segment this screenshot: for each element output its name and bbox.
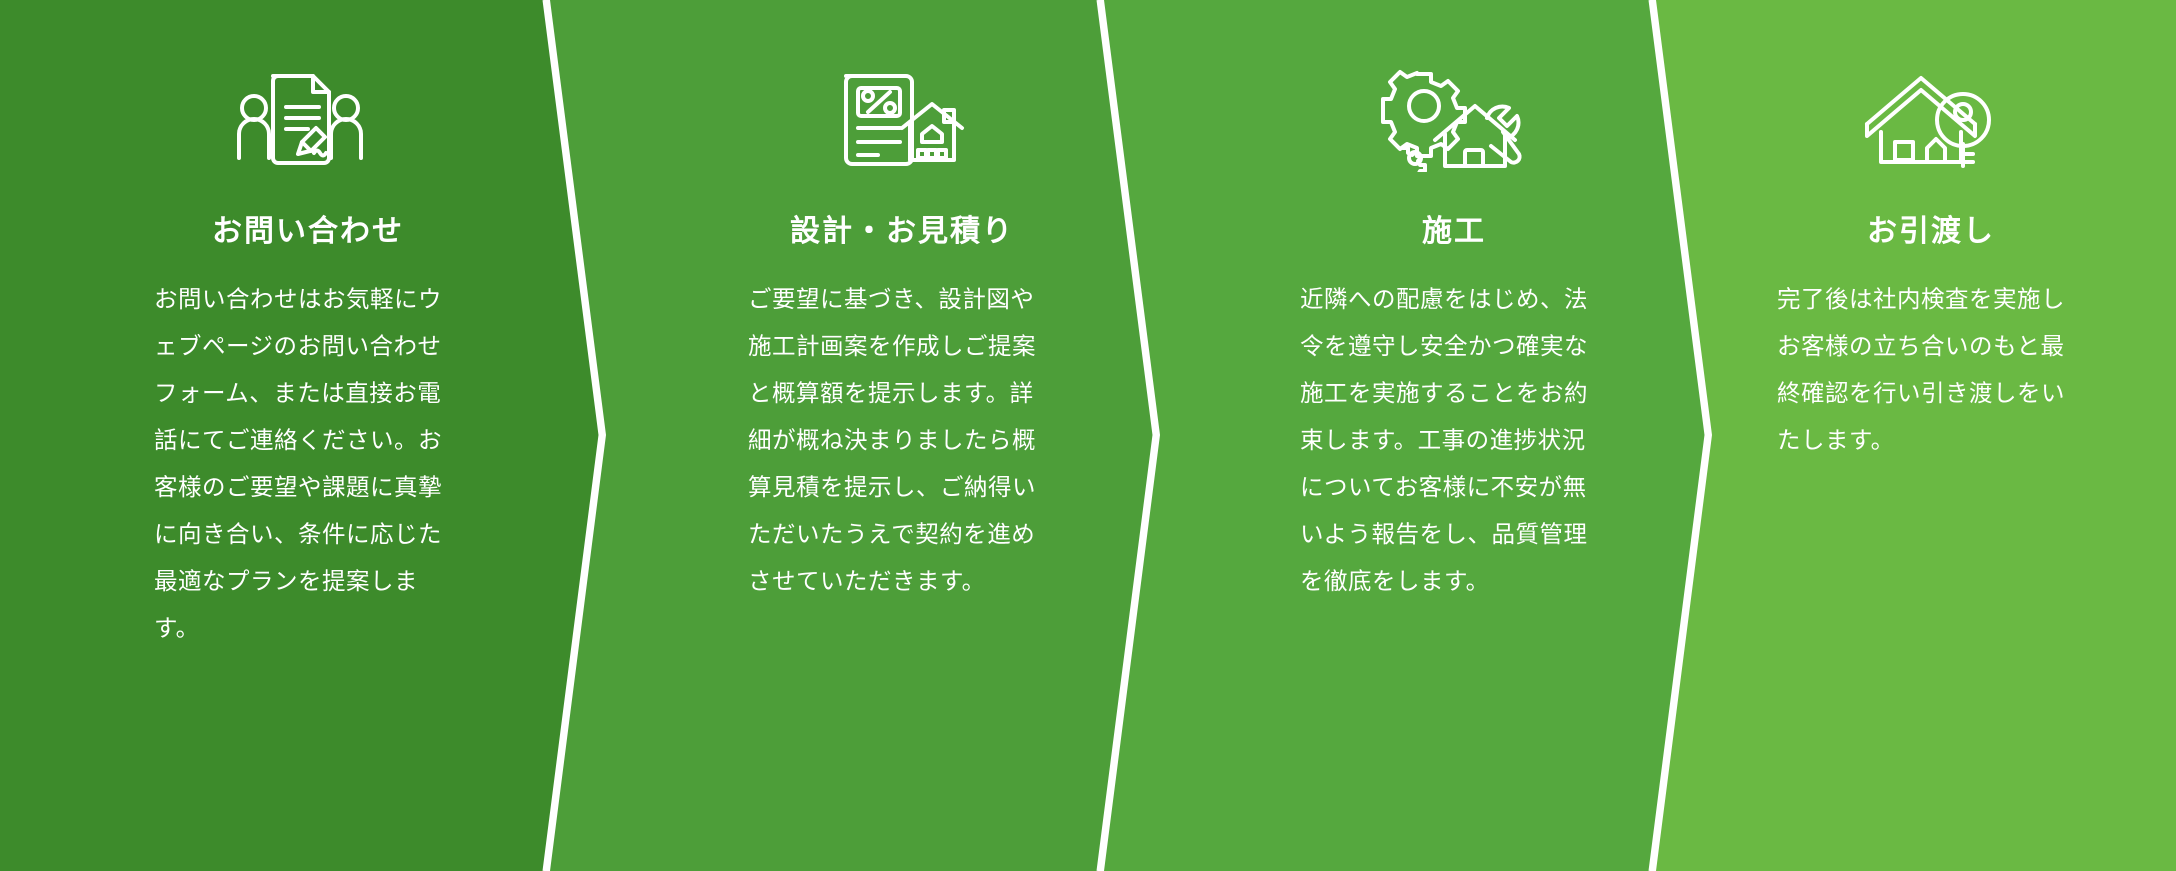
contract-signing-icon [225,62,375,172]
step-description: 近隣への配慮をはじめ、法令を遵守し安全かつ確実な施工を実施することをお約束します… [1300,276,1608,605]
house-key-handover-icon [1859,62,2004,172]
step-description: お問い合わせはお気軽にウェブページのお問い合わせフォーム、または直接お電話にてご… [154,276,462,652]
step-description: 完了後は社内検査を実施しお客様の立ち合いのもと最終確認を行い引き渡しをいたします… [1777,276,2085,464]
calculator-house-estimate-icon [832,62,972,172]
step-card-contact: お問い合わせ お問い合わせはお気軽にウェブページのお問い合わせフォーム、または直… [0,0,600,871]
step-card-construction: 施工 近隣への配慮をはじめ、法令を遵守し安全かつ確実な施工を実施することをお約束… [1098,0,1758,871]
step-card-design-estimate: 設計・お見積り ご要望に基づき、設計図や施工計画案を作成しご提案と概算額を提示し… [544,0,1204,871]
gear-wrench-house-icon [1379,62,1529,172]
step-description: ご要望に基づき、設計図や施工計画案を作成しご提案と概算額を提示します。詳細が概ね… [748,276,1056,605]
step-title: 施工 [1422,214,1486,250]
step-card-handover: お引渡し 完了後は社内検査を実施しお客様の立ち合いのもと最終確認を行い引き渡しを… [1650,0,2176,871]
step-title: お問い合わせ [212,214,404,250]
process-steps-banner: お問い合わせ お問い合わせはお気軽にウェブページのお問い合わせフォーム、または直… [0,0,2176,871]
step-title: 設計・お見積り [790,214,1014,250]
step-title: お引渡し [1867,214,1995,250]
